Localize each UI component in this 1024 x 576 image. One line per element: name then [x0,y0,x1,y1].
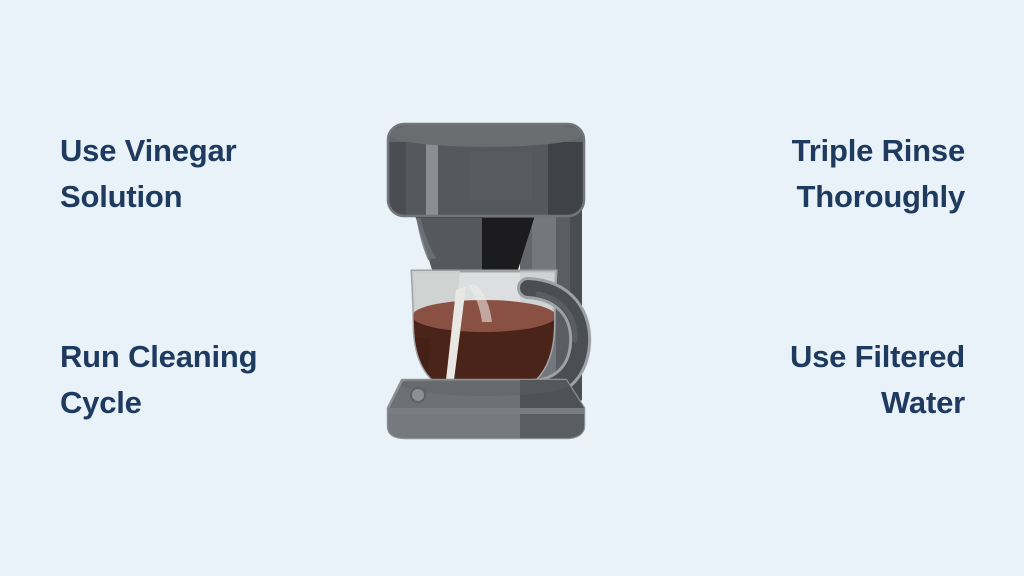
power-indicator-light[interactable] [411,388,425,402]
coffee-maker-illustration [370,108,650,448]
filter-basket [414,212,536,278]
warming-plate-base [388,372,588,442]
tip-label-bottom-left: Run Cleaning Cycle [60,334,360,426]
tip-label-top-left: Use Vinegar Solution [60,128,360,220]
slide-canvas: Use Vinegar Solution Triple Rinse Thorou… [0,0,1024,576]
coffee-maker-head [388,121,584,216]
tip-label-top-right: Triple Rinse Thoroughly [645,128,965,220]
tip-label-bottom-right: Use Filtered Water [645,334,965,426]
